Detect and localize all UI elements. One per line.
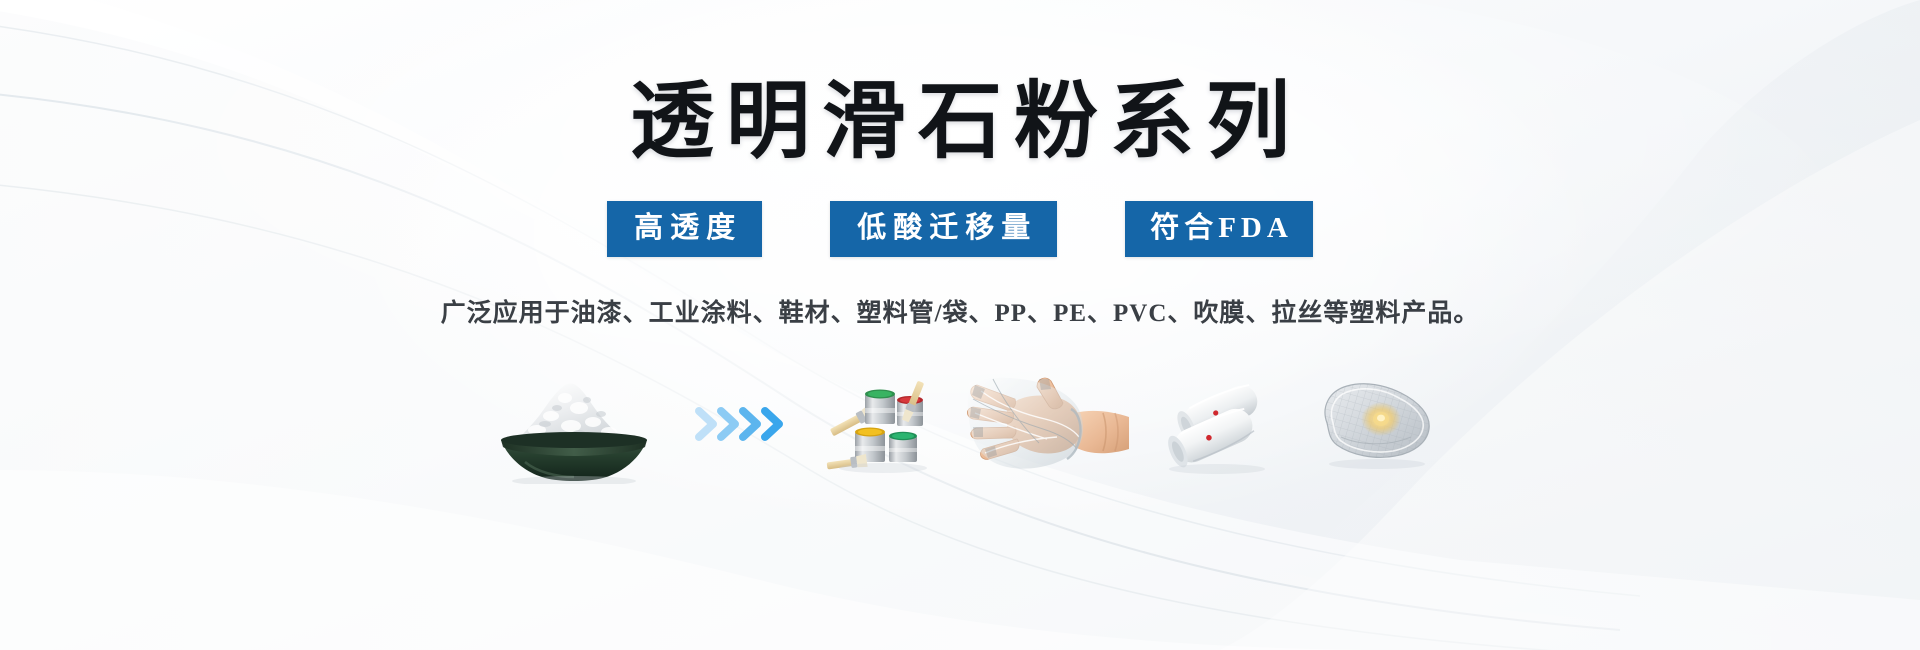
film-rolls-icon [1155,369,1285,479]
feature-badge-list: 高透度 低酸迁移量 符合FDA [607,201,1313,257]
feature-badge-low-acid-migration[interactable]: 低酸迁移量 [830,201,1057,257]
product-film-rolls [1155,369,1285,479]
product-paint-cans [821,364,941,484]
plastic-glove-icon [963,369,1133,479]
process-arrows [691,395,799,453]
product-talc-powder-bowl [479,364,669,484]
banner-content: 透明滑石粉系列 高透度 低酸迁移量 符合FDA 广泛应用于油漆、工业涂料、鞋材、… [0,0,1920,650]
feature-badge-fda[interactable]: 符合FDA [1125,201,1313,257]
product-banner: 透明滑石粉系列 高透度 低酸迁移量 符合FDA 广泛应用于油漆、工业涂料、鞋材、… [0,0,1920,650]
product-shoe-sole [1307,367,1442,482]
chevron-right-icon [691,395,799,453]
paint-can-green [865,390,895,425]
paint-cans-icon [821,364,941,484]
product-image-strip [0,349,1920,499]
shoe-sole-icon [1307,367,1442,482]
page-title: 透明滑石粉系列 [618,78,1302,167]
talc-powder-bowl-icon [479,364,669,484]
product-plastic-glove [963,369,1133,479]
application-description: 广泛应用于油漆、工业涂料、鞋材、塑料管/袋、PP、PE、PVC、吹膜、拉丝等塑料… [441,293,1480,329]
feature-badge-transparency[interactable]: 高透度 [607,201,762,257]
paint-can-teal [889,432,917,462]
